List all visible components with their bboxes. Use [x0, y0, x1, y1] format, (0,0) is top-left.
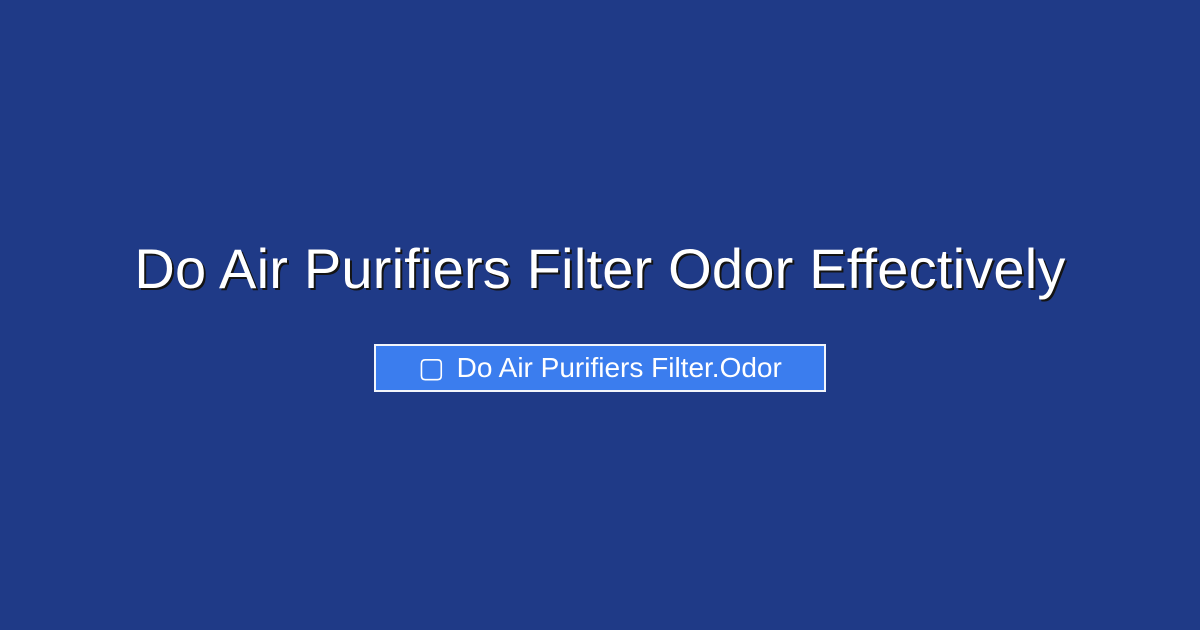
cta-container: ▢ Do Air Purifiers Filter.Odor: [374, 344, 826, 392]
page-title: Do Air Purifiers Filter Odor Effectively: [134, 238, 1065, 300]
missing-glyph-box-icon: ▢: [418, 354, 444, 382]
cta-button-label: Do Air Purifiers Filter.Odor: [457, 354, 782, 382]
page-canvas: Do Air Purifiers Filter Odor Effectively…: [0, 0, 1200, 630]
cta-button[interactable]: ▢ Do Air Purifiers Filter.Odor: [374, 344, 826, 392]
